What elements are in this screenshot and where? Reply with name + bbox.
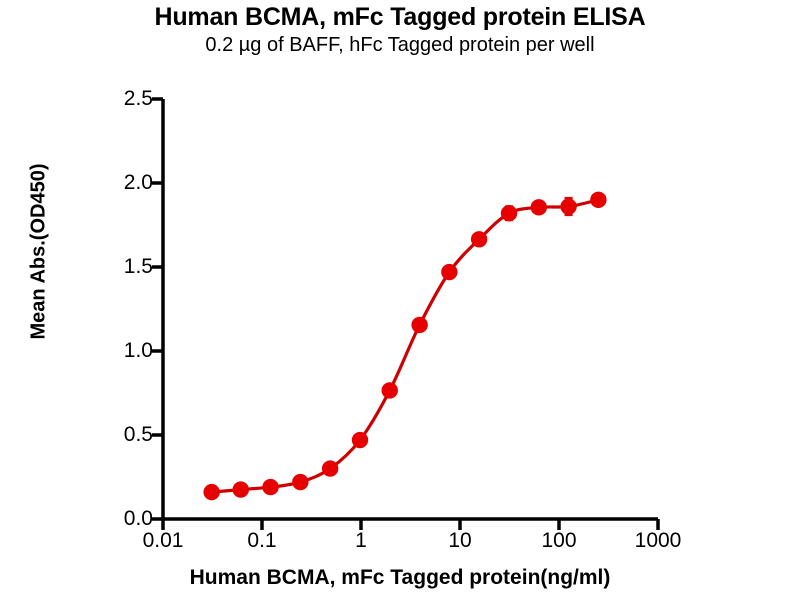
- data-point: [411, 317, 427, 333]
- y-tick-label: 2.5: [93, 88, 153, 109]
- data-point: [203, 484, 219, 500]
- x-tick-label: 0.1: [217, 530, 307, 551]
- fit-curve: [212, 200, 599, 492]
- data-point: [560, 198, 576, 214]
- x-tick-labels: 0.010.11101001000: [0, 530, 800, 560]
- y-tick-label: 1.5: [93, 256, 153, 277]
- y-tick-label: 0.0: [93, 508, 153, 529]
- data-point: [501, 205, 517, 221]
- elisa-chart-figure: Human BCMA, mFc Tagged protein ELISA 0.2…: [0, 0, 800, 600]
- data-point: [322, 460, 338, 476]
- x-tick-label: 1000: [613, 530, 703, 551]
- data-point: [590, 192, 606, 208]
- axis-lines: [163, 99, 658, 519]
- y-tick-label: 0.5: [93, 424, 153, 445]
- data-point: [441, 264, 457, 280]
- data-point: [233, 481, 249, 497]
- x-tick-label: 100: [514, 530, 604, 551]
- data-point: [382, 382, 398, 398]
- x-tick-label: 1: [316, 530, 406, 551]
- data-point: [262, 479, 278, 495]
- y-tick-labels: 0.00.51.01.52.02.5: [93, 0, 153, 600]
- y-tick-label: 1.0: [93, 340, 153, 361]
- data-point: [352, 432, 368, 448]
- data-point: [471, 231, 487, 247]
- data-point: [531, 199, 547, 215]
- y-tick-label: 2.0: [93, 172, 153, 193]
- x-tick-label: 0.01: [118, 530, 208, 551]
- data-point: [292, 474, 308, 490]
- data-point-markers: [203, 192, 606, 501]
- x-tick-label: 10: [415, 530, 505, 551]
